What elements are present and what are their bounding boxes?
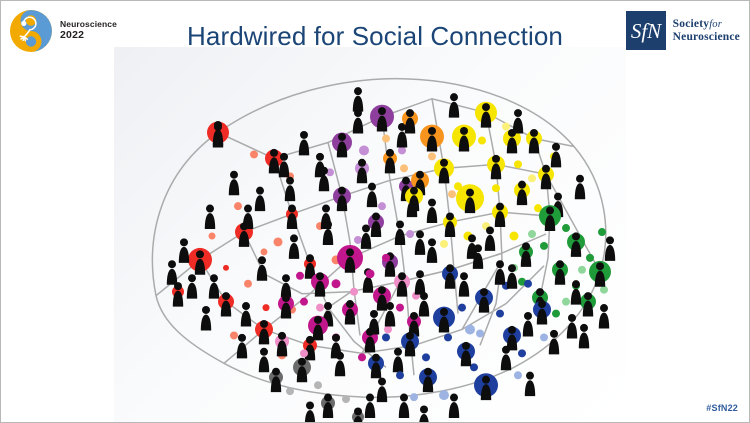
brain-network-illustration <box>114 47 626 422</box>
event-hashtag: #SfN22 <box>706 403 738 413</box>
slide-title: Hardwired for Social Connection <box>1 21 749 52</box>
artwork-panel <box>114 47 626 422</box>
slide-canvas: Neuroscience 2022 SfN Societyfor Neurosc… <box>1 1 749 422</box>
